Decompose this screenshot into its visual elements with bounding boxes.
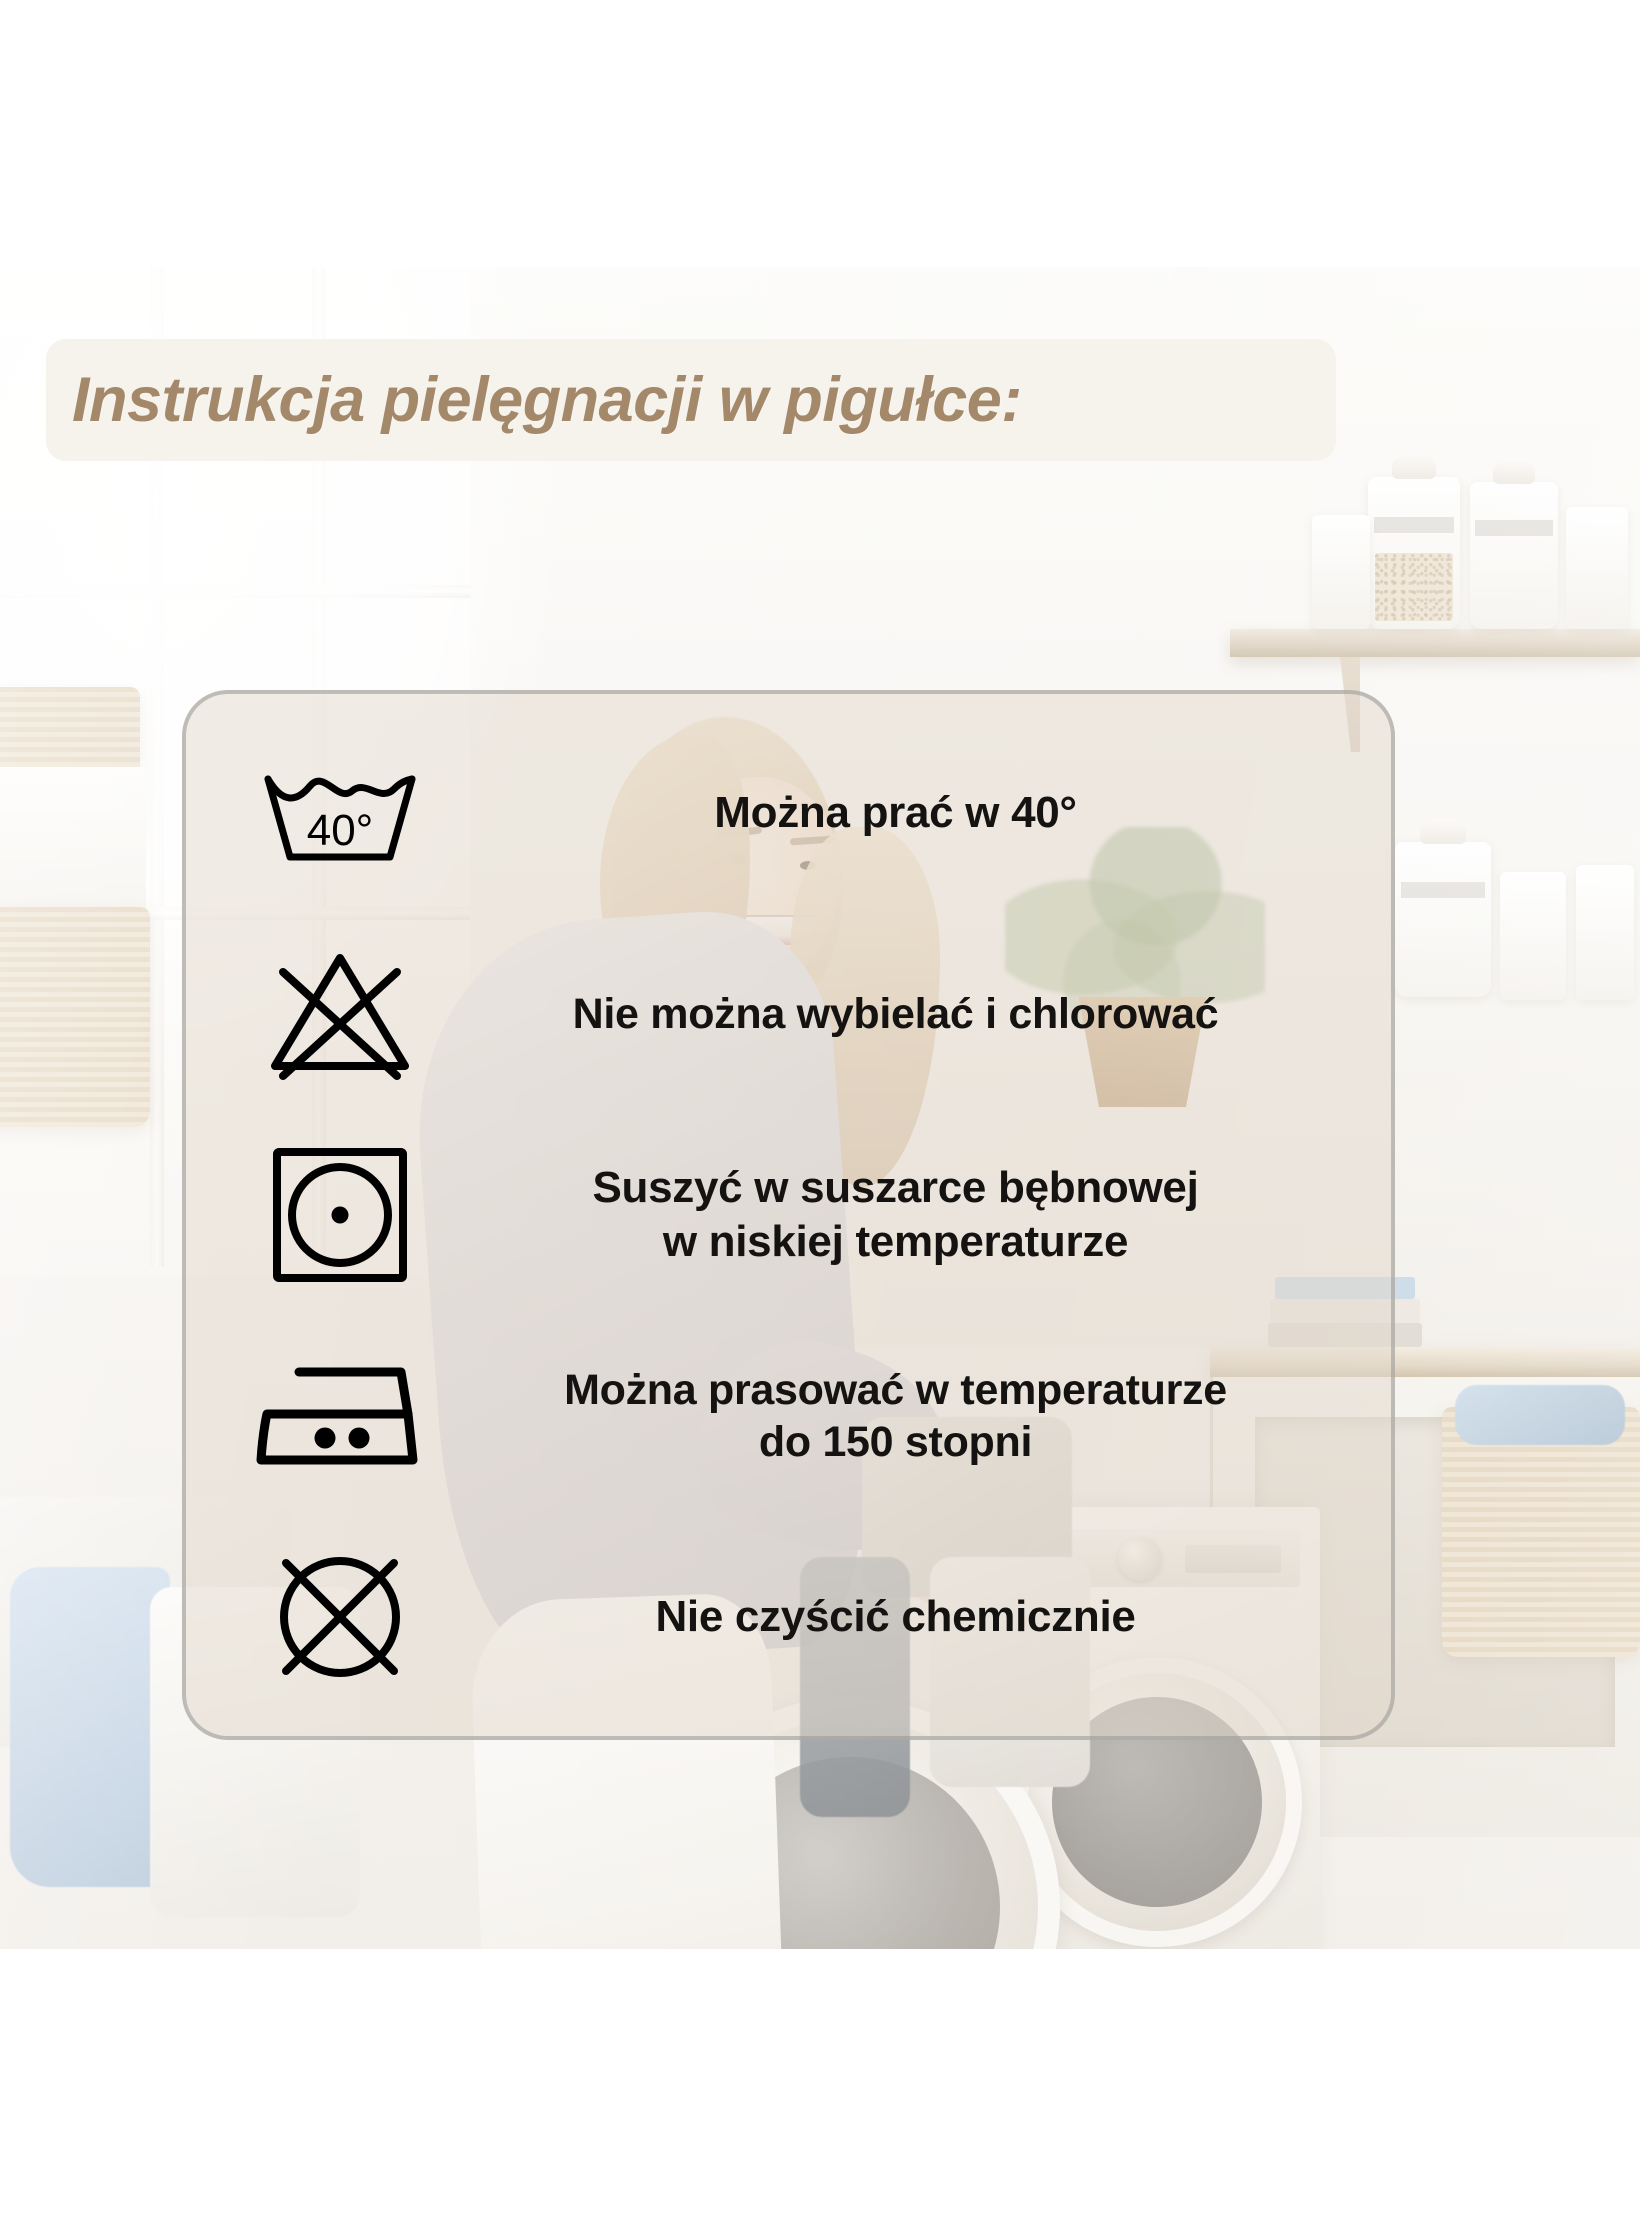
care-instruction-text: Nie można wybielać i chlorować [573,988,1219,1040]
care-instruction-text: Nie czyścić chemicznie [655,1590,1135,1644]
text-cell: Można prasować w temperaturze do 150 sto… [450,1364,1351,1469]
care-line-1: Można prać w 40° [714,788,1076,837]
detergent-bottle [1500,872,1566,1000]
care-line-2: do 150 stopni [759,1418,1032,1466]
detergent-bottle [1566,507,1628,629]
storage-jar [1368,477,1460,629]
title-badge: Instrukcja pielęgnacji w pigułce: [46,339,1336,461]
care-instruction-text: Można prać w 40° [714,786,1076,840]
care-line-1: Nie czyścić chemicznie [655,1592,1135,1641]
care-row: 40° Można prać w 40° [230,718,1351,908]
symbol-cell [230,1356,450,1476]
care-row: Suszyć w suszarce bębnowej w niskiej tem… [230,1120,1351,1310]
care-line-1: Można prasować w temperaturze [564,1366,1227,1414]
symbol-cell [230,1145,450,1285]
poster-canvas: Instrukcja pielęgnacji w pigułce: 40° Mo… [0,0,1640,2216]
laundry-basket [0,907,150,1127]
care-row: Można prasować w temperaturze do 150 sto… [230,1321,1351,1511]
symbol-cell [230,948,450,1080]
text-cell: Nie czyścić chemicznie [450,1590,1351,1644]
do-not-dry-clean-icon [270,1547,410,1687]
detergent-bottle [1312,515,1370,629]
tumble-dry-low-icon [270,1145,410,1285]
laundry-cloth [1455,1385,1625,1445]
care-row: Nie można wybielać i chlorować [230,919,1351,1109]
do-not-bleach-triangle-icon [265,948,415,1080]
detergent-bottle [1576,865,1634,1000]
wash-tub-40-icon: 40° [260,753,420,873]
page-title: Instrukcja pielęgnacji w pigułce: [46,364,1022,436]
care-row: Nie czyścić chemicznie [230,1522,1351,1712]
wall-shelf [1230,629,1640,657]
care-instruction-text: Można prasować w temperaturze do 150 sto… [564,1364,1227,1469]
care-line-2: w niskiej temperaturze [663,1217,1128,1266]
care-instruction-text: Suszyć w suszarce bębnowej w niskiej tem… [593,1161,1199,1268]
blue-cloth [10,1567,170,1887]
wash-temperature-label: 40° [307,806,374,855]
symbol-cell: 40° [230,753,450,873]
text-cell: Można prać w 40° [450,786,1351,840]
care-line-1: Nie można wybielać i chlorować [573,990,1219,1038]
care-line-1: Suszyć w suszarce bębnowej [593,1163,1199,1212]
care-instructions-card: 40° Można prać w 40° Nie można wybi [182,690,1395,1740]
text-cell: Nie można wybielać i chlorować [450,988,1351,1040]
iron-two-dots-icon [255,1356,425,1476]
storage-jar [1470,482,1558,629]
storage-jar [1395,842,1491,997]
text-cell: Suszyć w suszarce bębnowej w niskiej tem… [450,1161,1351,1268]
symbol-cell [230,1547,450,1687]
